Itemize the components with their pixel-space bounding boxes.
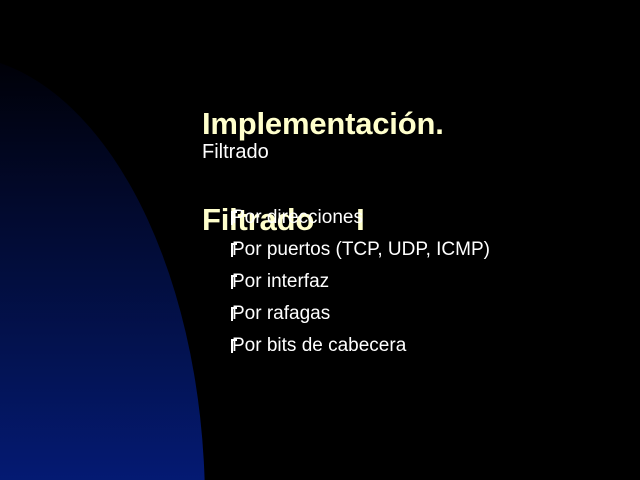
list-item: Por bits de cabecera	[230, 336, 620, 355]
list-item-label: Por direcciones	[232, 208, 363, 227]
list-item-label: Por interfaz	[232, 272, 329, 291]
bullet-list: Por direcciones Por puertos (TCP, UDP, I…	[230, 208, 620, 355]
list-item: Por rafagas	[230, 304, 620, 323]
slide-title-line-1: Implementación.	[202, 108, 622, 140]
presentation-slide: Implementación. Filtrado I Filtrado Por …	[0, 0, 640, 480]
list-item-label: Por rafagas	[232, 304, 330, 323]
list-item-label: Por puertos (TCP, UDP, ICMP)	[232, 240, 490, 259]
slide-subtitle: Filtrado	[202, 140, 269, 164]
list-item: Por interfaz	[230, 272, 620, 291]
blue-ellipse-decoration	[0, 55, 205, 480]
list-item: Por direcciones	[230, 208, 620, 227]
list-item-label: Por bits de cabecera	[232, 336, 406, 355]
list-item: Por puertos (TCP, UDP, ICMP)	[230, 240, 620, 259]
